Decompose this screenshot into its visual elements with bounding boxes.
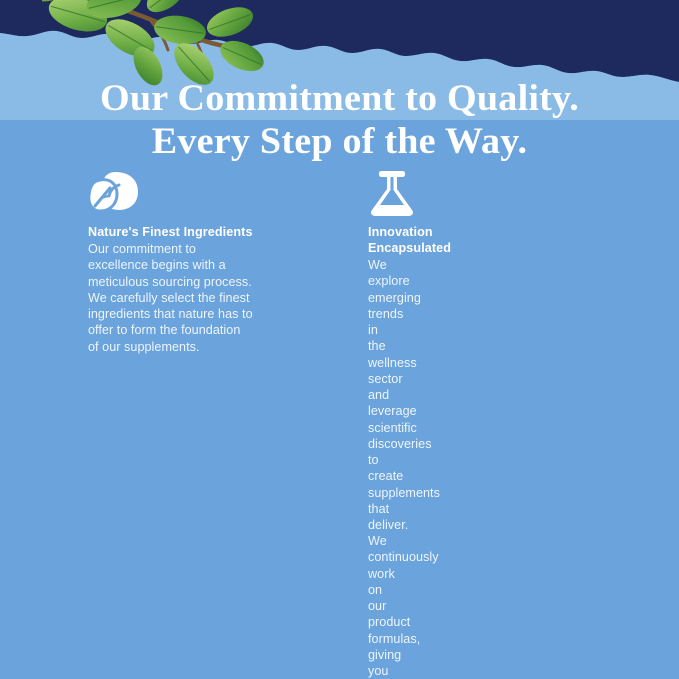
- marketing-infographic-page: Our Commitment to Quality. Every Step of…: [0, 0, 679, 679]
- feature-grid: Nature's Finest Ingredients Our commitme…: [0, 168, 679, 679]
- feature-card-innovation: Innovation Encapsulated We explore emerg…: [0, 168, 386, 679]
- headline-line-1: Our Commitment to Quality.: [0, 77, 679, 120]
- feature-row-1: Nature's Finest Ingredients Our commitme…: [0, 168, 679, 679]
- headline-line-2: Every Step of the Way.: [0, 120, 679, 163]
- page-headline: Our Commitment to Quality. Every Step of…: [0, 77, 679, 164]
